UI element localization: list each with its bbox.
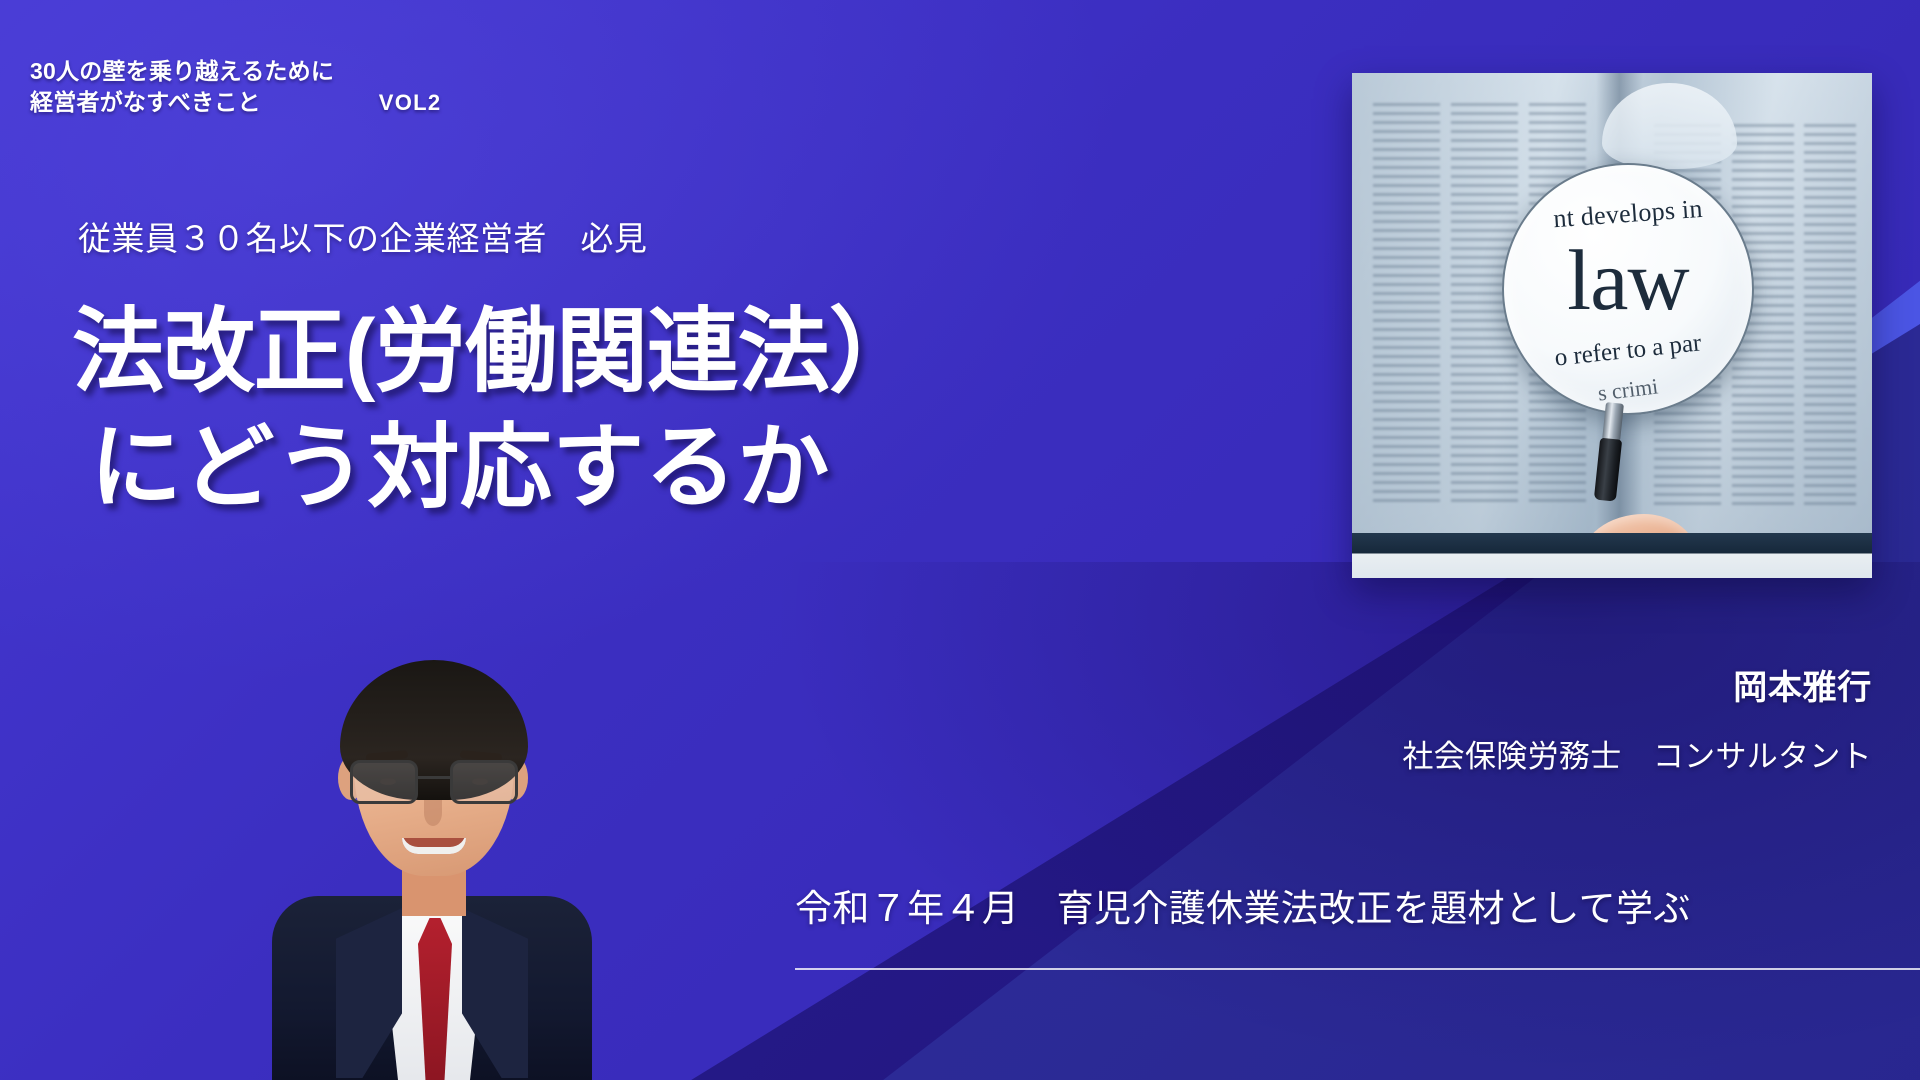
magnifier-ferrule <box>1602 402 1624 442</box>
speaker-block: 岡本雅行 社会保険労務士 コンサルタント <box>1402 660 1872 776</box>
glasses-lens-left <box>350 760 418 804</box>
audience-line: 従業員３０名以下の企業経営者 必見 <box>78 212 647 260</box>
book-bottom-edge <box>1352 533 1872 578</box>
caption-divider <box>795 968 1920 970</box>
glasses-bridge <box>418 776 450 779</box>
glasses-lens-right <box>450 760 518 804</box>
title-slide: 30人の壁を乗り越えるために 経営者がなすべきこと VOL2 従業員３０名以下の… <box>0 0 1920 1080</box>
speaker-role: 社会保険労務士 コンサルタント <box>1402 731 1872 776</box>
main-title: 法改正(労働関連法） にどう対応するか <box>72 295 1082 527</box>
title-line-1: 法改正(労働関連法） <box>72 295 1082 411</box>
portrait-mouth <box>402 838 466 854</box>
kicker-line-1: 30人の壁を乗り越えるために <box>30 56 670 87</box>
title-line-2: にどう対応するか <box>90 411 1082 527</box>
series-kicker: 30人の壁を乗り越えるために 経営者がなすべきこと VOL2 <box>30 56 670 118</box>
law-book-photo: nt develops in law o refer to a par s cr… <box>1352 73 1872 578</box>
speaker-name: 岡本雅行 <box>1402 660 1872 709</box>
kicker-row-2: 経営者がなすべきこと VOL2 <box>30 87 670 118</box>
magnifier-lens-icon: nt develops in law o refer to a par s cr… <box>1502 163 1754 415</box>
presenter-portrait <box>262 660 602 1080</box>
background-soft-shadow <box>768 562 1920 1080</box>
page-text-column <box>1804 124 1856 508</box>
bottom-caption: 令和７年４月 育児介護休業法改正を題材として学ぶ <box>795 878 1880 932</box>
volume-badge: VOL2 <box>379 88 442 117</box>
portrait-nose <box>424 800 442 826</box>
magnified-top-text: nt develops in <box>1503 190 1752 237</box>
magnified-word: law <box>1504 237 1752 323</box>
kicker-line-2: 経営者がなすべきこと <box>30 87 261 118</box>
page-text-column <box>1373 103 1441 507</box>
